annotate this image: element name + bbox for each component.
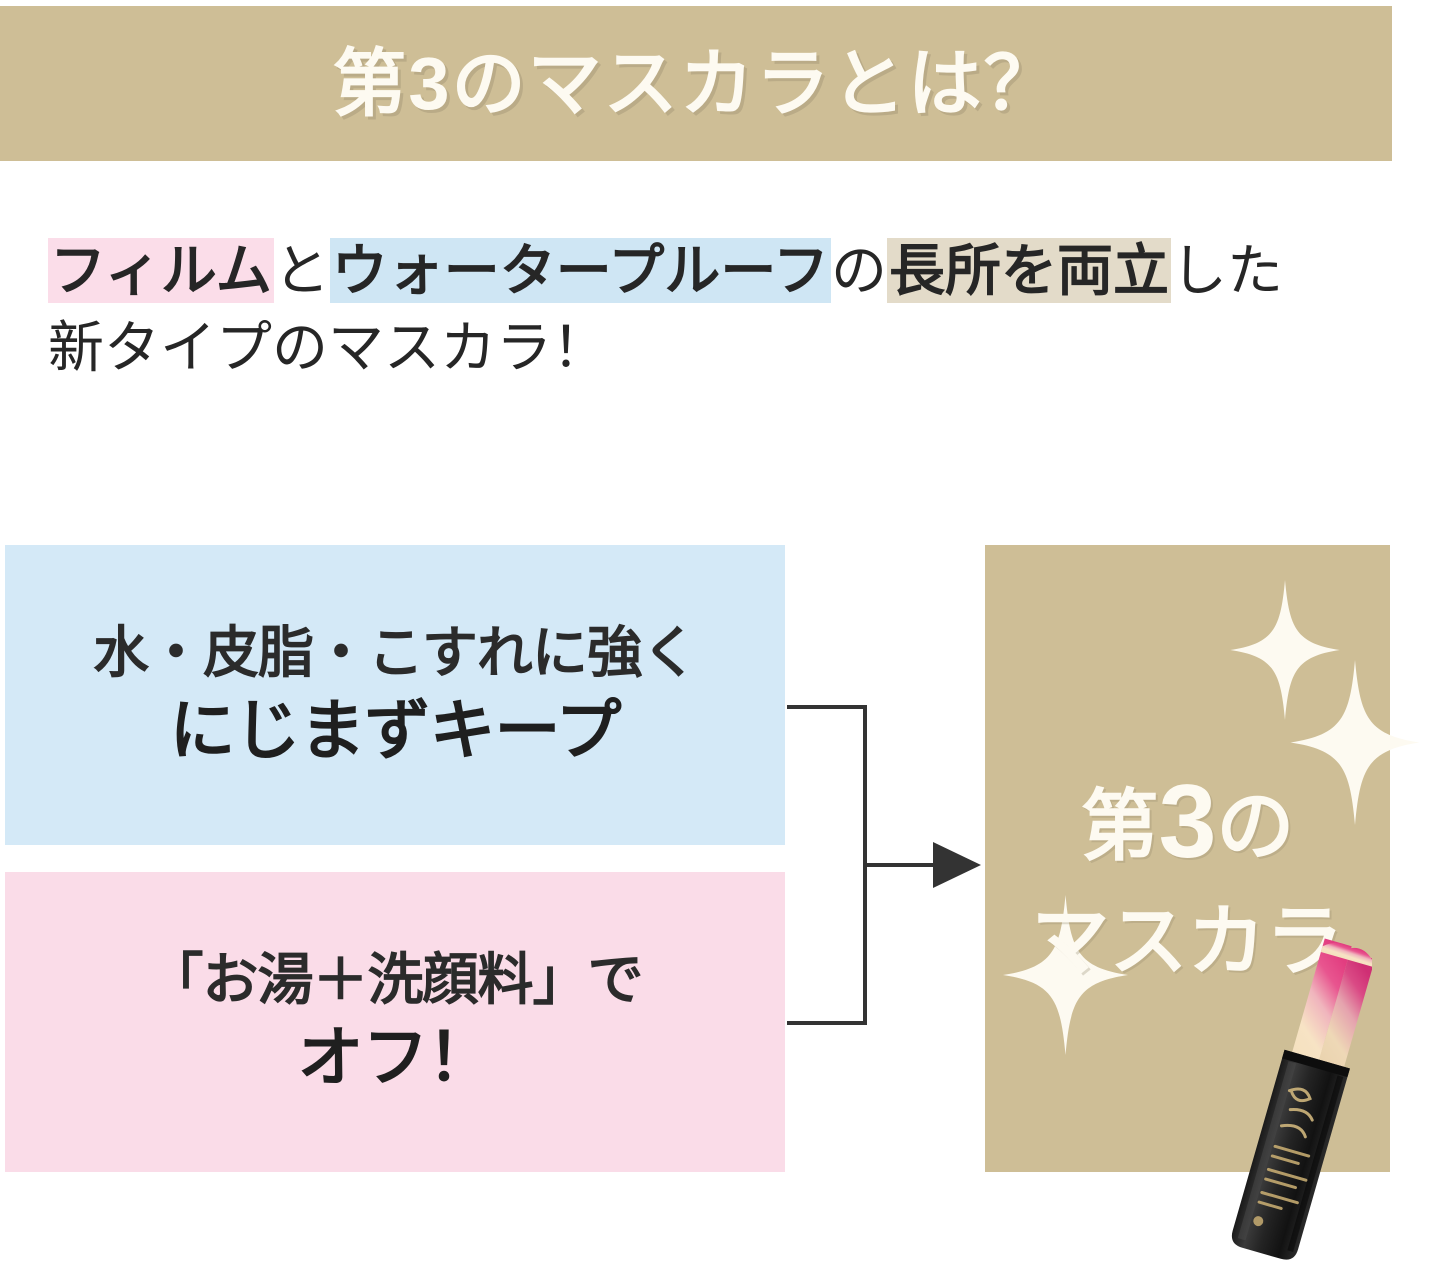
page-title: 第3のマスカラとは？ <box>332 47 1059 121</box>
lead-suffix-shita: した <box>1171 239 1283 302</box>
lead-particle-no: の <box>831 239 887 302</box>
connector-bracket <box>785 680 990 1050</box>
lead-paragraph: フィルムとウォータープルーフの長所を両立した 新タイプのマスカラ！ <box>48 232 1418 387</box>
highlight-merit: 長所を両立 <box>887 238 1171 303</box>
feature-pink-line-2: オフ！ <box>298 1019 493 1097</box>
result-suffix: の <box>1216 782 1294 870</box>
mascara-tube-image <box>1222 925 1372 1270</box>
lead-line-1: フィルムとウォータープルーフの長所を両立した <box>48 232 1418 309</box>
result-prefix: 第 <box>1081 782 1159 870</box>
highlight-film: フィルム <box>48 238 274 303</box>
header-banner: 第3のマスカラとは？ <box>0 6 1392 161</box>
highlight-waterproof: ウォータープルーフ <box>330 238 831 303</box>
right-arrow-icon <box>933 842 981 888</box>
result-line-1: 第3の <box>985 770 1390 874</box>
lead-conjunction-to: と <box>274 239 330 302</box>
feature-box-water-resistance: 水・皮脂・こすれに強く にじまずキープ <box>5 545 785 845</box>
result-number: 3 <box>1159 764 1217 880</box>
lead-line-2: 新タイプのマスカラ！ <box>48 309 1418 386</box>
feature-blue-line-1: 水・皮脂・こすれに強く <box>93 621 697 686</box>
feature-blue-line-2: にじまずキープ <box>169 692 620 770</box>
feature-box-easy-removal: 「お湯＋洗顔料」で オフ！ <box>5 872 785 1172</box>
feature-pink-line-1: 「お湯＋洗顔料」で <box>148 948 643 1013</box>
